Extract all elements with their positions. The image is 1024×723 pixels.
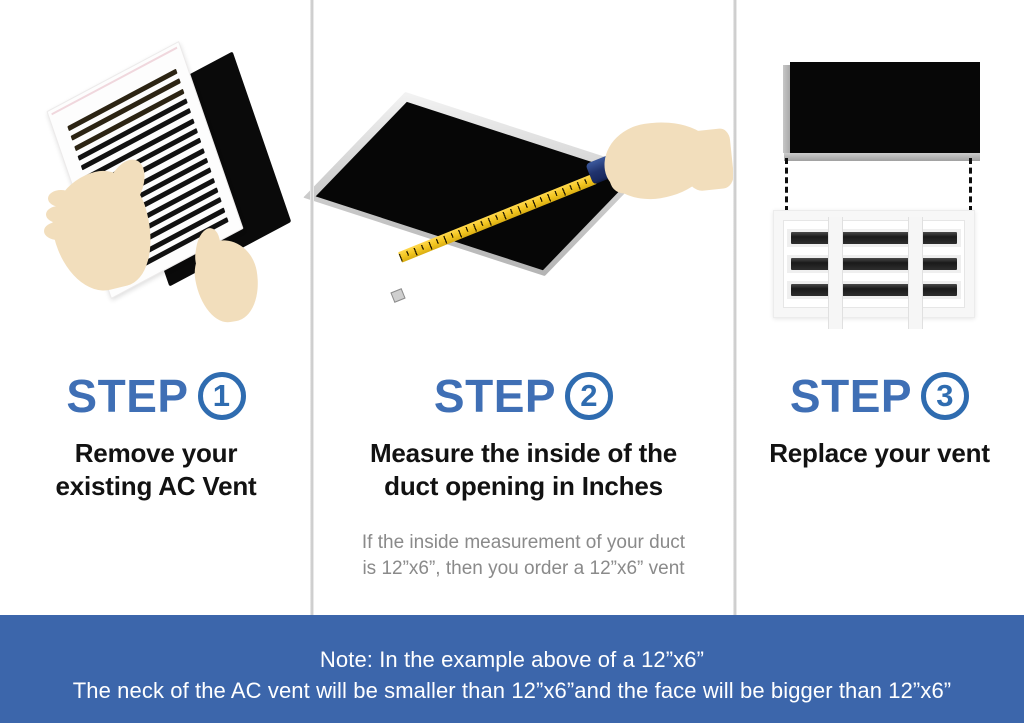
step-2-title-line-2: duct opening in Inches xyxy=(312,470,735,503)
tape-measure-hook-icon xyxy=(390,288,405,303)
step-2-title: Measure the inside of the duct opening i… xyxy=(312,437,735,504)
vent-divider-post xyxy=(908,217,923,329)
step-2-text-block: STEP 2 Measure the inside of the duct op… xyxy=(312,372,735,582)
replacement-ac-vent xyxy=(773,210,975,318)
steps-container: STEP 1 Remove your existing AC Vent xyxy=(0,0,1024,615)
step-2-note-line-1: If the inside measurement of your duct xyxy=(312,530,735,556)
vent-blade xyxy=(791,232,957,244)
step-1-heading: STEP 1 xyxy=(66,372,245,420)
finger-icon xyxy=(46,206,72,223)
note-banner-line-2: The neck of the AC vent will be smaller … xyxy=(0,675,1024,706)
note-banner: Note: In the example above of a 12”x6” T… xyxy=(0,615,1024,723)
step-panel-1: STEP 1 Remove your existing AC Vent xyxy=(0,0,312,615)
duct-hole xyxy=(790,62,980,154)
ac-vent-removal-graphic xyxy=(46,62,276,302)
vent-louver-row xyxy=(787,255,961,273)
step-3-text-block: STEP 3 Replace your vent xyxy=(735,372,1024,470)
alignment-dashed-line-right xyxy=(969,158,972,212)
wrist-shape xyxy=(681,128,735,193)
step-2-illustration xyxy=(312,0,735,355)
duct-measuring-graphic xyxy=(332,100,722,290)
step-1-illustration xyxy=(0,0,312,355)
vent-louver-row xyxy=(787,281,961,299)
step-label: STEP xyxy=(790,373,912,419)
step-1-title-line-2: existing AC Vent xyxy=(0,470,312,503)
vent-grille xyxy=(783,220,965,308)
step-number-badge: 3 xyxy=(921,372,969,420)
alignment-dashed-line-left xyxy=(785,158,788,212)
step-label: STEP xyxy=(434,373,556,419)
duct-opening-box xyxy=(790,62,980,154)
panel-divider-left xyxy=(310,0,314,615)
finger-icon xyxy=(48,190,74,207)
step-3-title: Replace your vent xyxy=(735,437,1024,470)
step-number-badge: 1 xyxy=(198,372,246,420)
step-3-heading: STEP 3 xyxy=(790,372,969,420)
note-banner-line-1: Note: In the example above of a 12”x6” xyxy=(0,644,1024,675)
vent-louver-row xyxy=(787,229,961,247)
vent-divider-post xyxy=(828,217,843,329)
step-1-title: Remove your existing AC Vent xyxy=(0,437,312,504)
step-1-text-block: STEP 1 Remove your existing AC Vent xyxy=(0,372,312,504)
step-label: STEP xyxy=(66,373,188,419)
step-panel-2: STEP 2 Measure the inside of the duct op… xyxy=(312,0,735,615)
step-panel-3: STEP 3 Replace your vent xyxy=(735,0,1024,615)
panel-divider-right xyxy=(733,0,737,615)
step-2-note: If the inside measurement of your duct i… xyxy=(312,530,735,582)
step-3-illustration xyxy=(735,0,1024,355)
step-3-title-line-1: Replace your vent xyxy=(735,437,1024,470)
infographic-page: STEP 1 Remove your existing AC Vent xyxy=(0,0,1024,723)
vent-replacement-graphic xyxy=(757,58,1005,328)
step-2-heading: STEP 2 xyxy=(434,372,613,420)
finger-icon xyxy=(44,222,72,240)
duct-bottom-edge xyxy=(784,153,980,161)
vent-blade xyxy=(791,284,957,296)
step-number-badge: 2 xyxy=(565,372,613,420)
step-2-note-line-2: is 12”x6”, then you order a 12”x6” vent xyxy=(312,556,735,582)
step-2-title-line-1: Measure the inside of the xyxy=(312,437,735,470)
vent-blade xyxy=(791,258,957,270)
step-1-title-line-1: Remove your xyxy=(0,437,312,470)
